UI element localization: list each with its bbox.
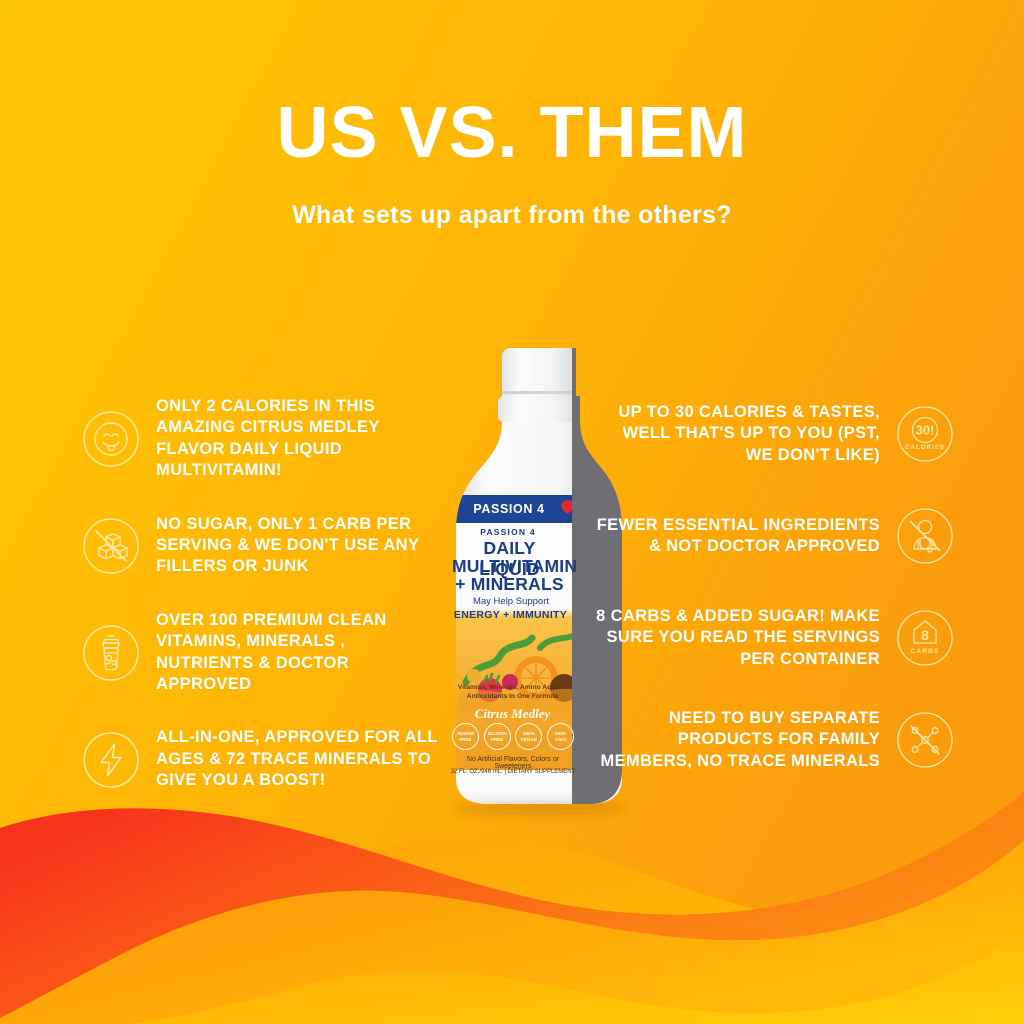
us-feature-2: NO SUGAR, ONLY 1 CARB PER SERVING & WE D…	[80, 508, 440, 584]
shaker-cup-icon	[80, 622, 142, 684]
them-feature-3: 8 CARBS 8 CARBS & ADDED SUGAR! MAKE SURE…	[596, 600, 956, 676]
them-feature-1: 30! CALORIES UP TO 30 CALORIES & TASTES,…	[596, 396, 956, 472]
wave-red-orange	[0, 792, 1024, 1024]
no-trace-minerals-icon	[894, 709, 956, 771]
them-feature-2-text: FEWER ESSENTIAL INGREDIENTS & NOT DOCTOR…	[596, 515, 894, 558]
calories-label: CALORIES	[905, 444, 945, 451]
them-feature-3-text: 8 CARBS & ADDED SUGAR! MAKE SURE YOU REA…	[596, 606, 894, 670]
infographic-canvas: US VS. THEM What sets up apart from the …	[0, 0, 1024, 1024]
carbs-label: CARBS	[910, 648, 939, 655]
page-subtitle: What sets up apart from the others?	[0, 201, 1024, 230]
carbs-8-icon: 8 CARBS	[894, 607, 956, 669]
us-feature-4-text: ALL-IN-ONE, APPROVED FOR ALL AGES & 72 T…	[142, 727, 440, 791]
us-feature-1-text: ONLY 2 CALORIES IN THIS AMAZING CITRUS M…	[142, 396, 440, 482]
us-column: ONLY 2 CALORIES IN THIS AMAZING CITRUS M…	[80, 396, 440, 822]
carbs-value: 8	[921, 627, 929, 643]
them-column: 30! CALORIES UP TO 30 CALORIES & TASTES,…	[596, 396, 956, 802]
calories-30-icon: 30! CALORIES	[894, 403, 956, 465]
them-feature-4: NEED TO BUY SEPARATE PRODUCTS FOR FAMILY…	[596, 702, 956, 778]
them-feature-4-text: NEED TO BUY SEPARATE PRODUCTS FOR FAMILY…	[596, 708, 894, 772]
header: US VS. THEM What sets up apart from the …	[0, 96, 1024, 230]
page-title: US VS. THEM	[0, 96, 1024, 171]
them-feature-2: FEWER ESSENTIAL INGREDIENTS & NOT DOCTOR…	[596, 498, 956, 574]
them-feature-1-text: UP TO 30 CALORIES & TASTES, WELL THAT'S …	[596, 402, 894, 466]
bottle-drop-shadow	[452, 800, 628, 816]
no-sugar-cubes-icon	[80, 515, 142, 577]
us-feature-2-text: NO SUGAR, ONLY 1 CARB PER SERVING & WE D…	[142, 514, 440, 578]
wave-yellow-bottom	[130, 926, 1024, 1024]
us-feature-3: OVER 100 PREMIUM CLEAN VITAMINS, MINERAL…	[80, 610, 440, 696]
us-feature-3-text: OVER 100 PREMIUM CLEAN VITAMINS, MINERAL…	[142, 610, 440, 696]
wave-gold	[0, 836, 1024, 1024]
lightning-bolt-icon	[80, 729, 142, 791]
calories-value: 30!	[916, 423, 935, 438]
us-feature-1: ONLY 2 CALORIES IN THIS AMAZING CITRUS M…	[80, 396, 440, 482]
us-feature-4: ALL-IN-ONE, APPROVED FOR ALL AGES & 72 T…	[80, 722, 440, 798]
no-doctor-icon	[894, 505, 956, 567]
wave-gold-lower	[0, 840, 1024, 1024]
smiley-tongue-icon	[80, 408, 142, 470]
